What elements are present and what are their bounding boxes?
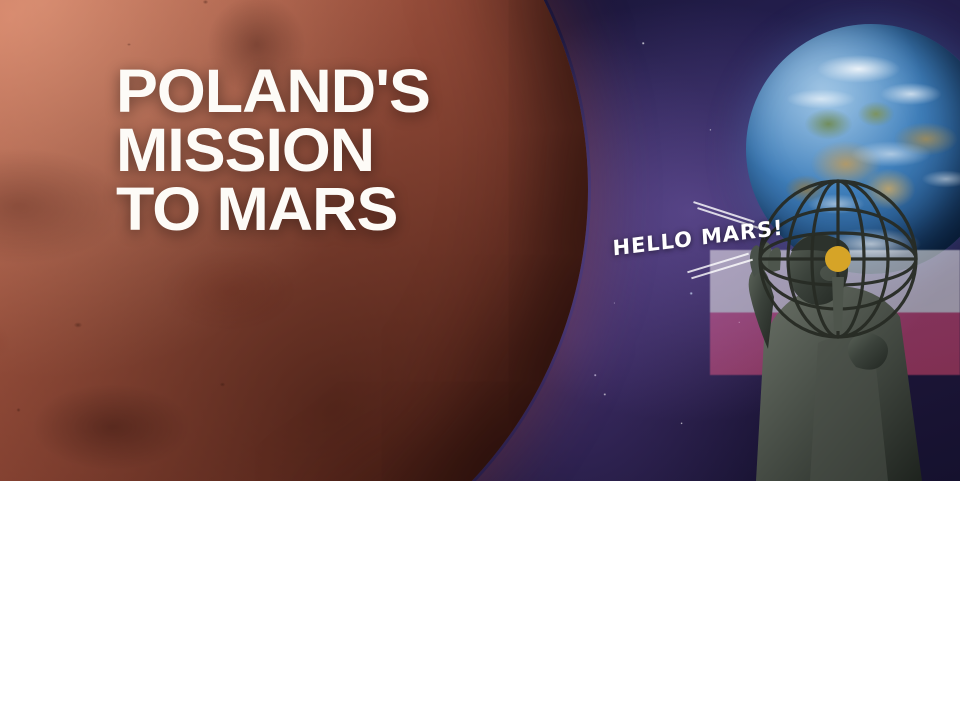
armillary-sphere [660,81,960,481]
hero-image: POLAND'S MISSION TO MARS HELLO MARS! [0,0,960,481]
partner-logo-band: Virgin ORBIT 🦅 Politechnika Wrocławska [0,481,960,720]
page-title: POLAND'S MISSION TO MARS [116,62,430,239]
poster-root: POLAND'S MISSION TO MARS HELLO MARS! Vir… [0,0,960,720]
speech-bubble: HELLO MARS! [608,206,758,276]
sphere-orb [825,246,851,272]
copernicus-statue [660,81,960,481]
